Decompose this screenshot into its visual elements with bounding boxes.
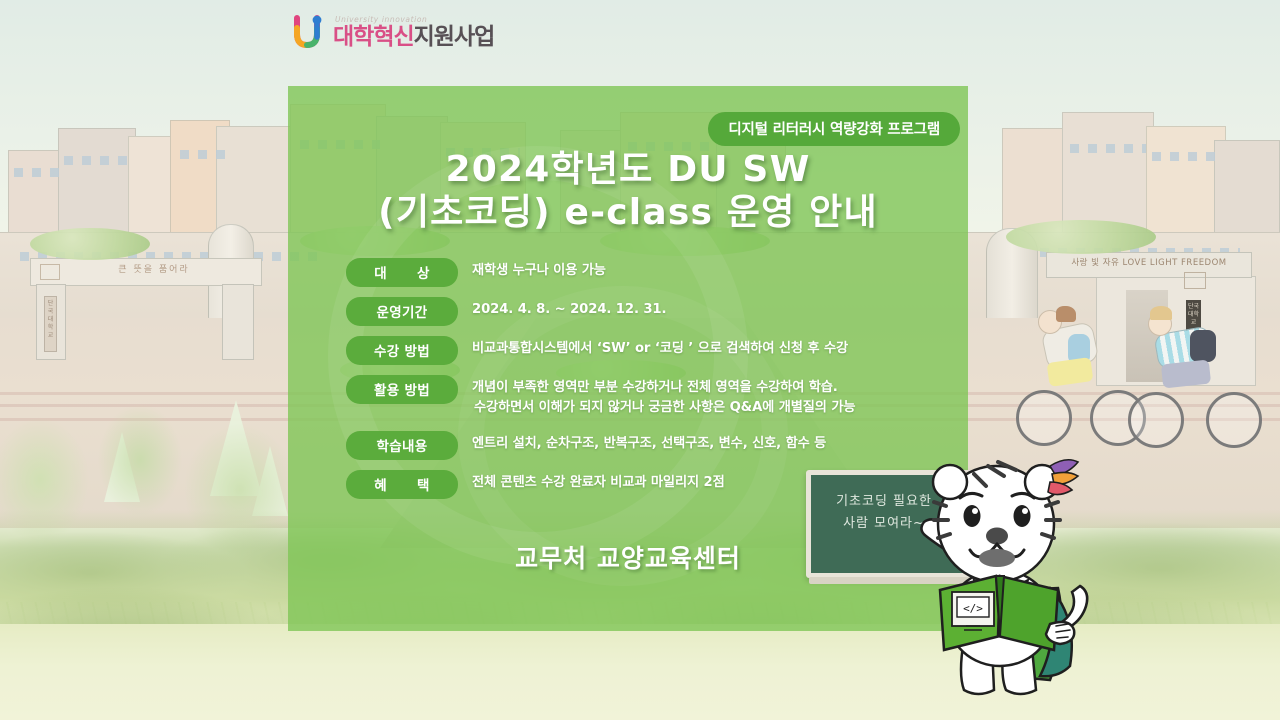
info-row-value: 개념이 부족한 영역만 부분 수강하거나 전체 영역을 수강하여 학습. 수강하…	[458, 375, 946, 418]
logo-text: University innovation 대학혁신지원사업	[333, 15, 494, 50]
info-row-value-line1: 2024. 4. 8. ~ 2024. 12. 31.	[472, 302, 666, 317]
gate-emblem-icon	[1184, 272, 1206, 289]
info-row: 학습내용 엔트리 설치, 순차구조, 반복구조, 선택구조, 변수, 신호, 함…	[346, 431, 946, 460]
info-row-label: 운영기간	[346, 297, 458, 326]
rider-hair	[1056, 306, 1076, 322]
window-strip	[180, 150, 226, 159]
page-title-line2: (기초코딩) e-class 운영 안내	[288, 191, 968, 234]
hedge	[30, 228, 150, 260]
hedge	[1006, 220, 1156, 254]
building	[216, 126, 296, 240]
info-row-value: 2024. 4. 8. ~ 2024. 12. 31.	[458, 297, 946, 320]
rider-legs	[1161, 360, 1211, 389]
tiger-mascot: </>	[900, 440, 1160, 708]
logo-title: 대학혁신지원사업	[333, 25, 494, 49]
svg-text:</>: </>	[963, 602, 983, 615]
gate-right-text: 사랑 빛 자유 LOVE LIGHT FREEDOM	[1046, 256, 1252, 268]
building	[1214, 140, 1280, 240]
bicycle-wheel	[1206, 392, 1262, 448]
rider-hair	[1150, 306, 1172, 320]
info-row-value-line1: 재학생 누구나 이용 가능	[472, 263, 606, 278]
poster-root: 큰 뜻을 품어라 단국대학교 사랑 빛 자유 LOVE LIGHT FREEDO…	[0, 0, 1280, 720]
info-row-value-line1: 비교과통합시스템에서 ‘SW’ or ‘코딩 ’ 으로 검색하여 신청 후 수강	[472, 341, 848, 356]
info-row-label: 활용 방법	[346, 375, 458, 404]
gate-emblem-icon	[40, 264, 60, 280]
info-row-value: 비교과통합시스템에서 ‘SW’ or ‘코딩 ’ 으로 검색하여 신청 후 수강	[458, 336, 946, 359]
page-title-line1: 2024학년도 DU SW	[446, 149, 811, 190]
logo-mark-icon	[292, 14, 326, 50]
info-row-label: 학습내용	[346, 431, 458, 460]
window-strip	[64, 156, 130, 165]
info-row: 수강 방법 비교과통합시스템에서 ‘SW’ or ‘코딩 ’ 으로 검색하여 신…	[346, 336, 946, 365]
info-row-value: 엔트리 설치, 순차구조, 반복구조, 선택구조, 변수, 신호, 함수 등	[458, 431, 946, 454]
logo-subtitle: University innovation	[335, 15, 494, 24]
logo-title-pink: 대학혁신	[333, 24, 414, 50]
bicycle-wheel	[1016, 390, 1072, 446]
info-row: 대 상 재학생 누구나 이용 가능	[346, 258, 946, 287]
info-row-value: 재학생 누구나 이용 가능	[458, 258, 946, 281]
rider-backpack	[1190, 330, 1216, 362]
gate-left-text: 큰 뜻을 품어라	[84, 262, 224, 275]
info-row-value-line1: 엔트리 설치, 순차구조, 반복구조, 선택구조, 변수, 신호, 함수 등	[472, 436, 826, 451]
page-title: 2024학년도 DU SW (기초코딩) e-class 운영 안내	[288, 148, 968, 234]
gate-post	[222, 284, 254, 360]
window-strip	[1070, 144, 1146, 153]
info-row-label: 대 상	[346, 258, 458, 287]
info-row-value-line1: 전체 콘텐츠 수강 완료자 비교과 마일리지 2점	[472, 475, 725, 490]
info-row-value-line1: 개념이 부족한 영역만 부분 수강하거나 전체 영역을 수강하여 학습.	[472, 380, 838, 395]
info-row: 운영기간 2024. 4. 8. ~ 2024. 12. 31.	[346, 297, 946, 326]
info-row-label: 수강 방법	[346, 336, 458, 365]
university-innovation-logo: University innovation 대학혁신지원사업	[292, 14, 494, 50]
program-badge: 디지털 리터러시 역량강화 프로그램	[708, 112, 960, 146]
window-strip	[14, 168, 64, 177]
gate-left-plaque: 단국대학교	[44, 296, 57, 352]
info-row-value-line2: 수강하면서 이해가 되지 않거나 궁금한 사항은 Q&A에 개별질의 가능	[472, 398, 946, 418]
window-strip	[1152, 152, 1218, 161]
building	[58, 128, 136, 240]
logo-title-gray: 지원사업	[414, 24, 495, 50]
info-row: 활용 방법 개념이 부족한 영역만 부분 수강하거나 전체 영역을 수강하여 학…	[346, 375, 946, 421]
info-row-label: 혜 택	[346, 470, 458, 499]
